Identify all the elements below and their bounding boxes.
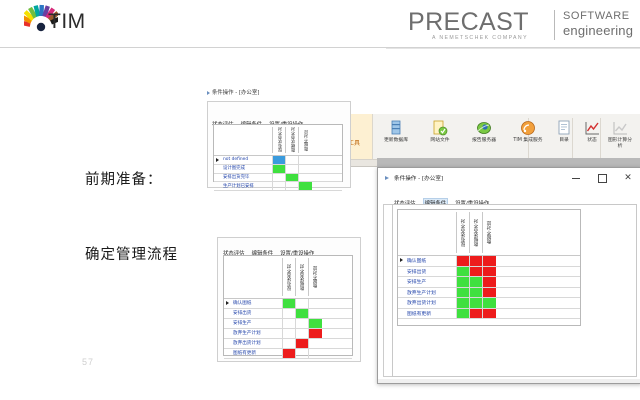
ribbon-button-label: 网站文件 xyxy=(418,138,462,144)
ribbon-button-label: 目录 xyxy=(550,138,578,144)
grid-cell[interactable] xyxy=(282,339,296,348)
ribbon-button-0[interactable]: 更新数据库 xyxy=(374,117,418,159)
grid-row[interactable]: 放弃生产计划 xyxy=(224,329,352,339)
minimize-icon xyxy=(572,178,580,179)
grid-row-label: 安排出货 xyxy=(233,310,251,316)
row-selector-arrow-icon xyxy=(226,301,229,305)
grid-column-header-0[interactable]: 现有状态不对 xyxy=(456,212,470,253)
precast-logo: PRECAST A NEMETSCHEK COMPANY SOFTWARE en… xyxy=(408,8,636,46)
grid-column-header-label: 数据状态不对 xyxy=(300,264,306,290)
ribbon-button-3[interactable]: TIM 集成服务 xyxy=(506,117,550,159)
dialog-conditional-actions-2[interactable]: 状态评估编辑条件设置/重设操作 现有状态不对数据状态不对数据不对应确认图纸安排出… xyxy=(217,237,359,360)
grid-row[interactable]: 安排出货 xyxy=(224,309,352,319)
slide-page-number: 57 xyxy=(82,357,94,367)
grid-row-label: 图纸有更新 xyxy=(233,350,256,356)
grid-cell[interactable] xyxy=(295,299,309,308)
grid-header-row: 现有状态不对数据状态不对数据不对应 xyxy=(214,125,342,156)
window3-bottom-bar xyxy=(378,379,640,383)
grid-column-header-label: 数据不对应 xyxy=(313,266,319,288)
grid-row-label: 放弃出货计划 xyxy=(233,340,261,346)
close-icon: ✕ xyxy=(624,174,632,183)
dialog1-title: 条件操作 - [办公室] xyxy=(212,90,259,96)
grid-column-header-label: 数据状态不对 xyxy=(474,219,480,247)
grid-cell[interactable] xyxy=(482,288,496,298)
ribbon-button-label: 报告服务器 xyxy=(462,138,506,144)
grid-cell[interactable] xyxy=(482,267,496,277)
grid-row-label: 设计图完成 xyxy=(223,165,245,171)
status-chart-icon xyxy=(583,119,601,137)
dialog-conditional-actions-1[interactable]: 条件操作 - [办公室] 状态评估编辑条件设置/重设操作 现有状态不对数据状态不… xyxy=(207,88,349,186)
window3-app-icon xyxy=(385,176,389,180)
row-selector-arrow-icon xyxy=(216,158,219,162)
precast-divider xyxy=(554,10,555,40)
grid-column-header-2[interactable]: 数据不对应 xyxy=(298,127,312,153)
grid-cell[interactable] xyxy=(272,182,286,190)
grid-row[interactable]: 安排出货 xyxy=(398,267,580,278)
grid-cell[interactable] xyxy=(308,349,322,358)
grid-cell[interactable] xyxy=(456,298,470,308)
grid-cell[interactable] xyxy=(285,174,299,182)
grid-column-header-label: 现有状态不对 xyxy=(461,219,467,247)
ribbon-button-label: 图形计算分析 xyxy=(606,138,634,149)
grid-cell[interactable] xyxy=(482,277,496,287)
grid-cell[interactable] xyxy=(469,267,483,277)
grid-cell[interactable] xyxy=(298,165,312,173)
grid-column-header-1[interactable]: 数据状态不对 xyxy=(469,212,483,253)
grid-cell[interactable] xyxy=(482,256,496,266)
grid-cell[interactable] xyxy=(469,298,483,308)
bullet-preparation: 前期准备： xyxy=(85,168,163,189)
grid-cell[interactable] xyxy=(469,256,483,266)
grid-column-header-2[interactable]: 数据不对应 xyxy=(482,212,496,253)
dialog2-grid[interactable]: 现有状态不对数据状态不对数据不对应确认图纸安排出货安排生产放弃生产计划放弃出货计… xyxy=(223,255,353,356)
window3-content-area: 现有状态不对数据状态不对数据不对应确认图纸安排出货安排生产放弃生产计划放弃出货计… xyxy=(392,204,637,377)
precast-tagline-engineering: engineering xyxy=(563,23,633,38)
tim-logo: TIM xyxy=(24,2,100,36)
grid-cell[interactable] xyxy=(308,309,322,318)
grid-header-row: 现有状态不对数据状态不对数据不对应 xyxy=(398,210,580,256)
grid-cell[interactable] xyxy=(285,182,299,190)
ribbon-button-label: TIM 集成服务 xyxy=(506,138,550,144)
grid-row-label: 图纸有更新 xyxy=(407,310,431,317)
ribbon-button-5[interactable]: 状态 xyxy=(578,117,606,159)
grid-column-header-0[interactable]: 现有状态不对 xyxy=(282,258,296,296)
grid-cell[interactable] xyxy=(285,156,299,164)
grid-cell[interactable] xyxy=(482,309,496,319)
window3-titlebar[interactable]: 条件操作 - [办公室] ✕ xyxy=(378,168,640,190)
ribbon-button-2[interactable]: 报告服务器 xyxy=(462,117,506,159)
grid-cell[interactable] xyxy=(282,299,296,308)
grid-cell[interactable] xyxy=(272,156,286,164)
grid-column-header-2[interactable]: 数据不对应 xyxy=(308,258,322,296)
grid-cell[interactable] xyxy=(456,277,470,287)
grid-row[interactable]: 图纸有更新 xyxy=(398,309,580,320)
grid-row-label: not defined xyxy=(223,157,248,162)
grid-cell[interactable] xyxy=(456,288,470,298)
grid-cell[interactable] xyxy=(308,319,322,328)
window3-menubar[interactable]: 状态评估编辑条件设置/重设操作 xyxy=(378,189,640,202)
grid-cell[interactable] xyxy=(295,339,309,348)
grid-column-header-label: 数据不对应 xyxy=(303,130,309,151)
precast-subtitle: A NEMETSCHEK COMPANY xyxy=(432,35,528,41)
grid-row[interactable]: 放弃生产计划 xyxy=(398,288,580,299)
window-conditional-actions-3[interactable]: 条件操作 - [办公室] ✕ 状态评估编辑条件设置/重设操作 现有状态不对数据状… xyxy=(377,167,640,384)
grid-row-label: 放弃生产计划 xyxy=(407,289,436,296)
grid-header-row: 现有状态不对数据状态不对数据不对应 xyxy=(224,256,352,299)
grid-cell[interactable] xyxy=(282,309,296,318)
grid-cell[interactable] xyxy=(295,319,309,328)
dialog3-grid[interactable]: 现有状态不对数据状态不对数据不对应确认图纸安排出货安排生产放弃生产计划放弃出货计… xyxy=(397,209,581,326)
grid-cell[interactable] xyxy=(298,174,312,182)
ribbon-button-label: 状态 xyxy=(578,138,606,144)
grid-row[interactable]: 放弃出货计划 xyxy=(224,339,352,349)
grid-column-header-label: 现有状态不对 xyxy=(277,127,283,152)
grid-cell[interactable] xyxy=(456,309,470,319)
grid-row[interactable]: 安排出货完毕 xyxy=(214,174,342,183)
ribbon-button-4[interactable]: 目录 xyxy=(550,117,578,159)
grid-row-label: 放弃生产计划 xyxy=(233,330,261,336)
ribbon-button-label: 更新数据库 xyxy=(374,138,418,144)
window3-title: 条件操作 - [办公室] xyxy=(394,174,443,182)
grid-cell[interactable] xyxy=(295,349,309,358)
grid-cell[interactable] xyxy=(298,182,312,190)
grid-row[interactable]: 安排生产 xyxy=(398,277,580,288)
ribbon-button-6[interactable]: 图形计算分析 xyxy=(606,117,634,159)
grid-cell[interactable] xyxy=(282,329,296,338)
row-selector-arrow-icon xyxy=(400,258,403,262)
grid-row-label: 安排生产 xyxy=(407,278,426,285)
grid-row[interactable]: not defined xyxy=(214,156,342,165)
bullet-management-flow: 确定管理流程 xyxy=(85,243,178,264)
grid-cell[interactable] xyxy=(282,349,296,358)
grid-row-label: 安排出货 xyxy=(407,268,426,275)
grid-column-header-1[interactable]: 数据状态不对 xyxy=(295,258,309,296)
grid-cell[interactable] xyxy=(272,165,286,173)
grid-row[interactable]: 图纸有更新 xyxy=(224,349,352,359)
grid-cell[interactable] xyxy=(456,256,470,266)
grid-row[interactable]: 确认图纸 xyxy=(224,299,352,309)
header-divider-secondary xyxy=(386,48,640,49)
grid-cell[interactable] xyxy=(469,277,483,287)
grid-cell[interactable] xyxy=(295,309,309,318)
grid-column-header-label: 数据状态不对 xyxy=(290,127,296,152)
web-file-icon xyxy=(431,119,449,137)
grid-cell[interactable] xyxy=(456,267,470,277)
grid-row-label: 确认图纸 xyxy=(407,257,426,264)
grid-row-label: 安排生产 xyxy=(233,320,251,326)
grid-row[interactable]: 生产计划已安排 xyxy=(214,182,342,191)
grid-row-label: 生产计划已安排 xyxy=(223,183,254,189)
report-server-icon xyxy=(475,119,493,137)
grid-row[interactable]: 放弃出货计划 xyxy=(398,298,580,309)
grid-cell[interactable] xyxy=(272,174,286,182)
grid-column-header-label: 数据不对应 xyxy=(487,221,493,244)
catalog-icon xyxy=(555,119,573,137)
grid-cell[interactable] xyxy=(282,319,296,328)
integration-service-icon xyxy=(519,119,537,137)
grid-cell[interactable] xyxy=(298,156,312,164)
grid-row[interactable]: 设计图完成 xyxy=(214,165,342,174)
background-window-strip xyxy=(377,158,640,167)
maximize-icon xyxy=(598,174,607,183)
grid-row-label: 放弃出货计划 xyxy=(407,299,436,306)
grid-row-label: 确认图纸 xyxy=(233,300,251,306)
graph-analysis-icon xyxy=(611,119,629,137)
window-close-button[interactable]: ✕ xyxy=(615,168,640,189)
grid-cell[interactable] xyxy=(285,165,299,173)
grid-cell[interactable] xyxy=(295,329,309,338)
grid-column-header-0[interactable]: 现有状态不对 xyxy=(272,127,286,153)
grid-cell[interactable] xyxy=(482,298,496,308)
grid-cell[interactable] xyxy=(308,299,322,308)
grid-row[interactable]: 确认图纸 xyxy=(398,256,580,267)
dialog1-window-icon xyxy=(207,91,210,95)
grid-row-label: 安排出货完毕 xyxy=(223,174,249,180)
grid-row[interactable]: 安排生产 xyxy=(224,319,352,329)
database-refresh-icon xyxy=(387,119,405,137)
window-maximize-button[interactable] xyxy=(589,168,615,189)
grid-cell[interactable] xyxy=(308,329,322,338)
dialog1-grid[interactable]: 现有状态不对数据状态不对数据不对应not defined设计图完成安排出货完毕生… xyxy=(213,124,343,182)
ribbon-button-1[interactable]: 网站文件 xyxy=(418,117,462,159)
grid-cell[interactable] xyxy=(469,309,483,319)
grid-cell[interactable] xyxy=(469,288,483,298)
grid-cell[interactable] xyxy=(308,339,322,348)
precast-wordmark: PRECAST xyxy=(408,8,529,37)
precast-tagline-software: SOFTWARE xyxy=(563,10,630,22)
dialog1-titlebar: 条件操作 - [办公室] xyxy=(207,88,259,96)
slide-header: TIM PRECAST A NEMETSCHEK COMPANY SOFTWAR… xyxy=(0,0,640,56)
tim-wordmark: TIM xyxy=(48,10,86,34)
window-minimize-button[interactable] xyxy=(563,168,589,189)
grid-column-header-1[interactable]: 数据状态不对 xyxy=(285,127,299,153)
grid-column-header-label: 现有状态不对 xyxy=(287,264,293,290)
